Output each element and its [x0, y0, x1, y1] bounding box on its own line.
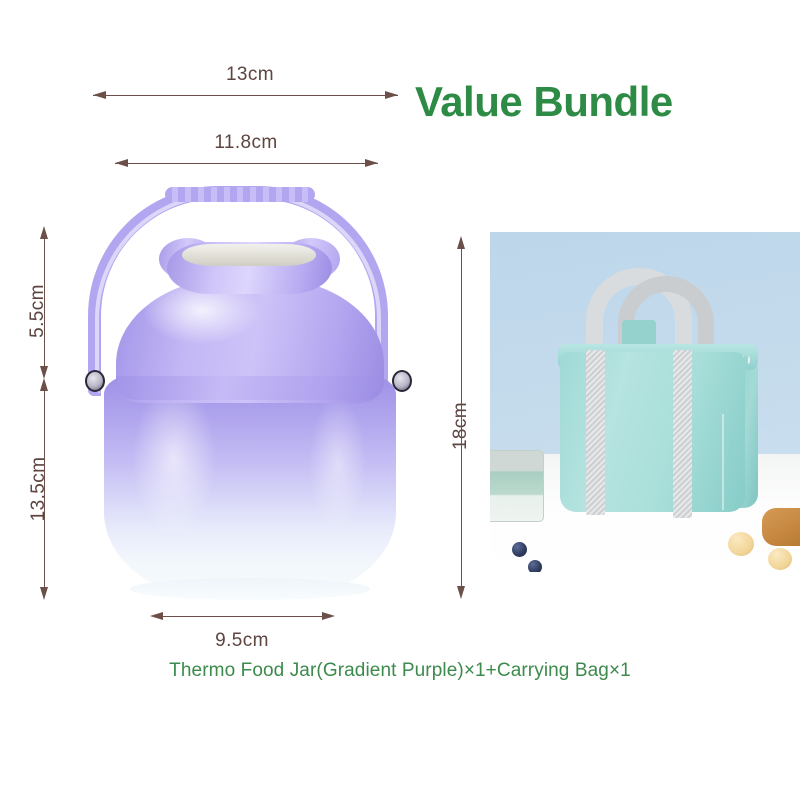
pastry-prop-1 [728, 532, 754, 556]
blueberry-prop-1 [512, 542, 527, 557]
dimension-label-body-height: 13.5cm [28, 444, 50, 534]
arrow-left-lid-width [115, 159, 128, 167]
bento-box-prop [490, 450, 544, 522]
thermo-food-jar-product-photo [60, 180, 440, 610]
arrow-right-base-width [322, 612, 335, 620]
dimension-line-lid-width [115, 163, 378, 164]
carrying-bag-lifestyle-photo [490, 232, 800, 572]
arrow-up-total-height [457, 236, 465, 249]
bundle-caption: Thermo Food Jar(Gradient Purple)×1+Carry… [0, 660, 800, 682]
arrow-up-lid-height [40, 226, 48, 239]
jar-handle-hinge-left [85, 370, 105, 392]
jar-cap-seal [182, 244, 316, 266]
dimension-line-total-width [93, 95, 398, 96]
dimension-line-lid-height [44, 233, 45, 375]
arrow-right-lid-width [365, 159, 378, 167]
dimension-label-base-width: 9.5cm [215, 630, 269, 652]
bag-side-pocket [722, 414, 756, 510]
dimension-line-base-width [155, 616, 330, 617]
jar-lid-band [116, 376, 384, 400]
dimension-label-lid-width: 11.8cm [214, 132, 277, 154]
bag-strap-right [673, 350, 692, 518]
wooden-board-prop [762, 508, 800, 546]
page-title: Value Bundle [415, 78, 673, 126]
dimension-line-body-height [44, 385, 45, 596]
jar-base [130, 578, 370, 600]
bag-strap-left [586, 350, 605, 515]
arrow-left-base-width [150, 612, 163, 620]
arrow-left-total-width [93, 91, 106, 99]
pastry-prop-2 [768, 548, 792, 570]
arrow-up-body-height [40, 378, 48, 391]
arrow-down-body-height [40, 587, 48, 600]
jar-handle-grip-ridges [165, 187, 315, 202]
arrow-down-total-height [457, 586, 465, 599]
blueberry-prop-2 [528, 560, 542, 572]
dimension-line-total-height [461, 243, 462, 595]
product-spec-image: Value Bundle 13cm 11.8cm 5.5cm 13.5cm 18… [0, 0, 800, 800]
jar-body-gradient [104, 374, 396, 598]
dimension-label-lid-height: 5.5cm [27, 271, 49, 351]
arrow-right-total-width [385, 91, 398, 99]
dimension-label-total-width: 13cm [226, 64, 274, 86]
